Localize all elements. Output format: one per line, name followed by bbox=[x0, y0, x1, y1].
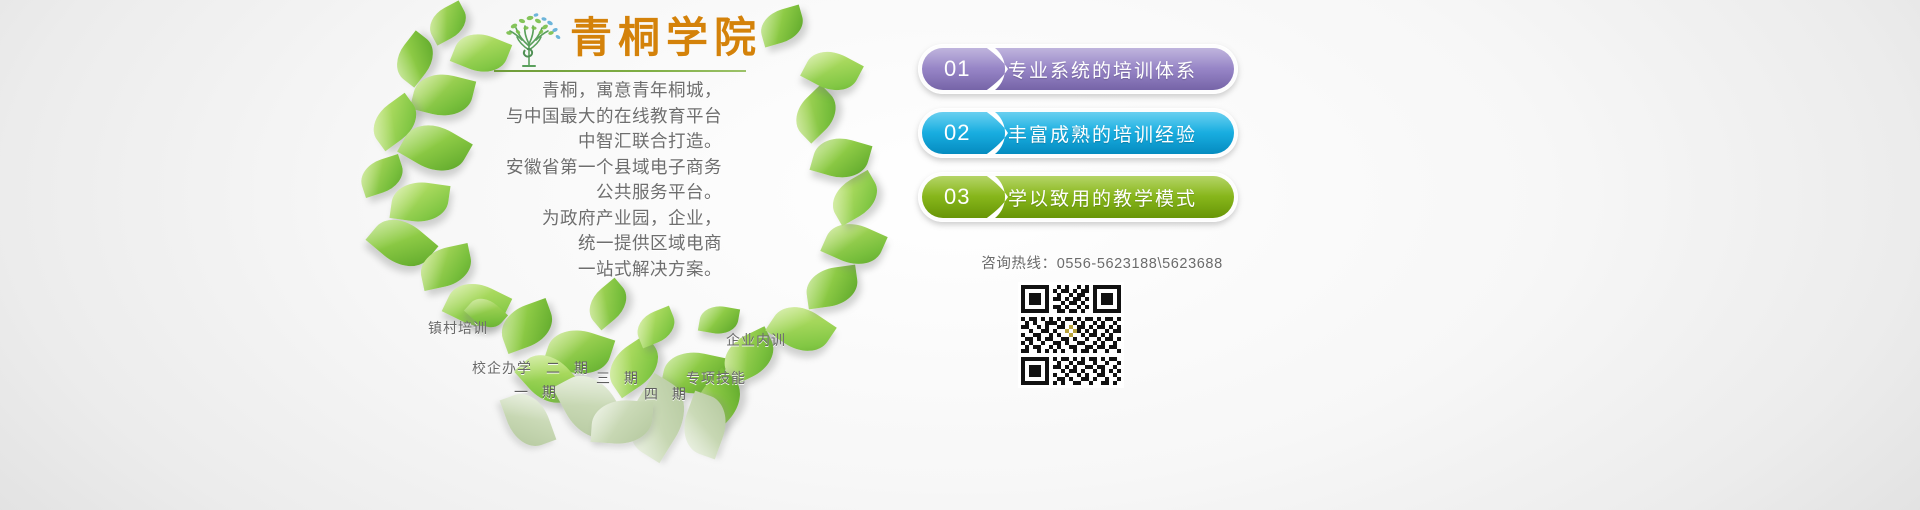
description-line: 安徽省第一个县域电子商务 bbox=[430, 155, 722, 181]
page-title: 青桐学院 bbox=[570, 12, 762, 64]
tree-icon bbox=[492, 10, 566, 68]
feature-number: 01 bbox=[922, 56, 1014, 82]
hotline-text: 咨询热线：0556-5623188\5623688 bbox=[952, 252, 1252, 273]
category-label-school-enterprise: 校企办学 bbox=[472, 358, 532, 378]
qr-code[interactable] bbox=[1018, 282, 1124, 388]
feature-item-01[interactable]: 01 专业系统的培训体系 bbox=[918, 44, 1238, 94]
description-line: 青桐，寓意青年桐城， bbox=[430, 78, 722, 104]
description-line: 一站式解决方案。 bbox=[430, 257, 722, 283]
category-label-town-training: 镇村培训 bbox=[428, 318, 488, 338]
description-line: 与中国最大的在线教育平台 bbox=[430, 104, 722, 130]
leaf-decor bbox=[756, 5, 807, 48]
brand-divider bbox=[494, 70, 746, 72]
feature-item-body: 02 丰富成熟的培训经验 bbox=[922, 112, 1234, 154]
feature-item-body: 01 专业系统的培训体系 bbox=[922, 48, 1234, 90]
stage-label-2: 二 期 bbox=[546, 358, 593, 378]
leaf-decor bbox=[824, 170, 885, 226]
category-label-special-skills: 专项技能 bbox=[686, 368, 746, 388]
leaf-decor bbox=[581, 278, 635, 331]
banner-stage: 青桐学院 青桐，寓意青年桐城， 与中国最大的在线教育平台 中智汇联合打造。 安徽… bbox=[0, 0, 1920, 510]
stage-label-4: 四 期 bbox=[644, 384, 691, 404]
description-line: 公共服务平台。 bbox=[430, 180, 722, 206]
stage-label-3: 三 期 bbox=[596, 368, 643, 388]
feature-label: 学以致用的教学模式 bbox=[1008, 184, 1197, 211]
brand-logo: 青桐学院 bbox=[492, 8, 762, 70]
leaf-decor bbox=[786, 84, 846, 143]
qr-code-image bbox=[1021, 285, 1121, 385]
description-line: 中智汇联合打造。 bbox=[430, 129, 722, 155]
description-line: 为政府产业园，企业， bbox=[430, 206, 722, 232]
leaf-decor bbox=[800, 42, 864, 100]
description-line: 统一提供区域电商 bbox=[430, 231, 722, 257]
feature-label: 丰富成熟的培训经验 bbox=[1008, 120, 1197, 147]
category-label-enterprise-training: 企业内训 bbox=[726, 330, 786, 350]
feature-label: 专业系统的培训体系 bbox=[1008, 56, 1197, 83]
description-block: 青桐，寓意青年桐城， 与中国最大的在线教育平台 中智汇联合打造。 安徽省第一个县… bbox=[430, 78, 722, 282]
stage-label-1: 一 期 bbox=[514, 382, 561, 402]
feature-item-body: 03 学以致用的教学模式 bbox=[922, 176, 1234, 218]
leaf-decor bbox=[804, 265, 861, 310]
feature-number: 02 bbox=[922, 120, 1014, 146]
feature-item-03[interactable]: 03 学以致用的教学模式 bbox=[918, 172, 1238, 222]
feature-number: 03 bbox=[922, 184, 1014, 210]
feature-list: 01 专业系统的培训体系 02 丰富成熟的培训经验 03 bbox=[918, 44, 1238, 236]
feature-item-02[interactable]: 02 丰富成熟的培训经验 bbox=[918, 108, 1238, 158]
